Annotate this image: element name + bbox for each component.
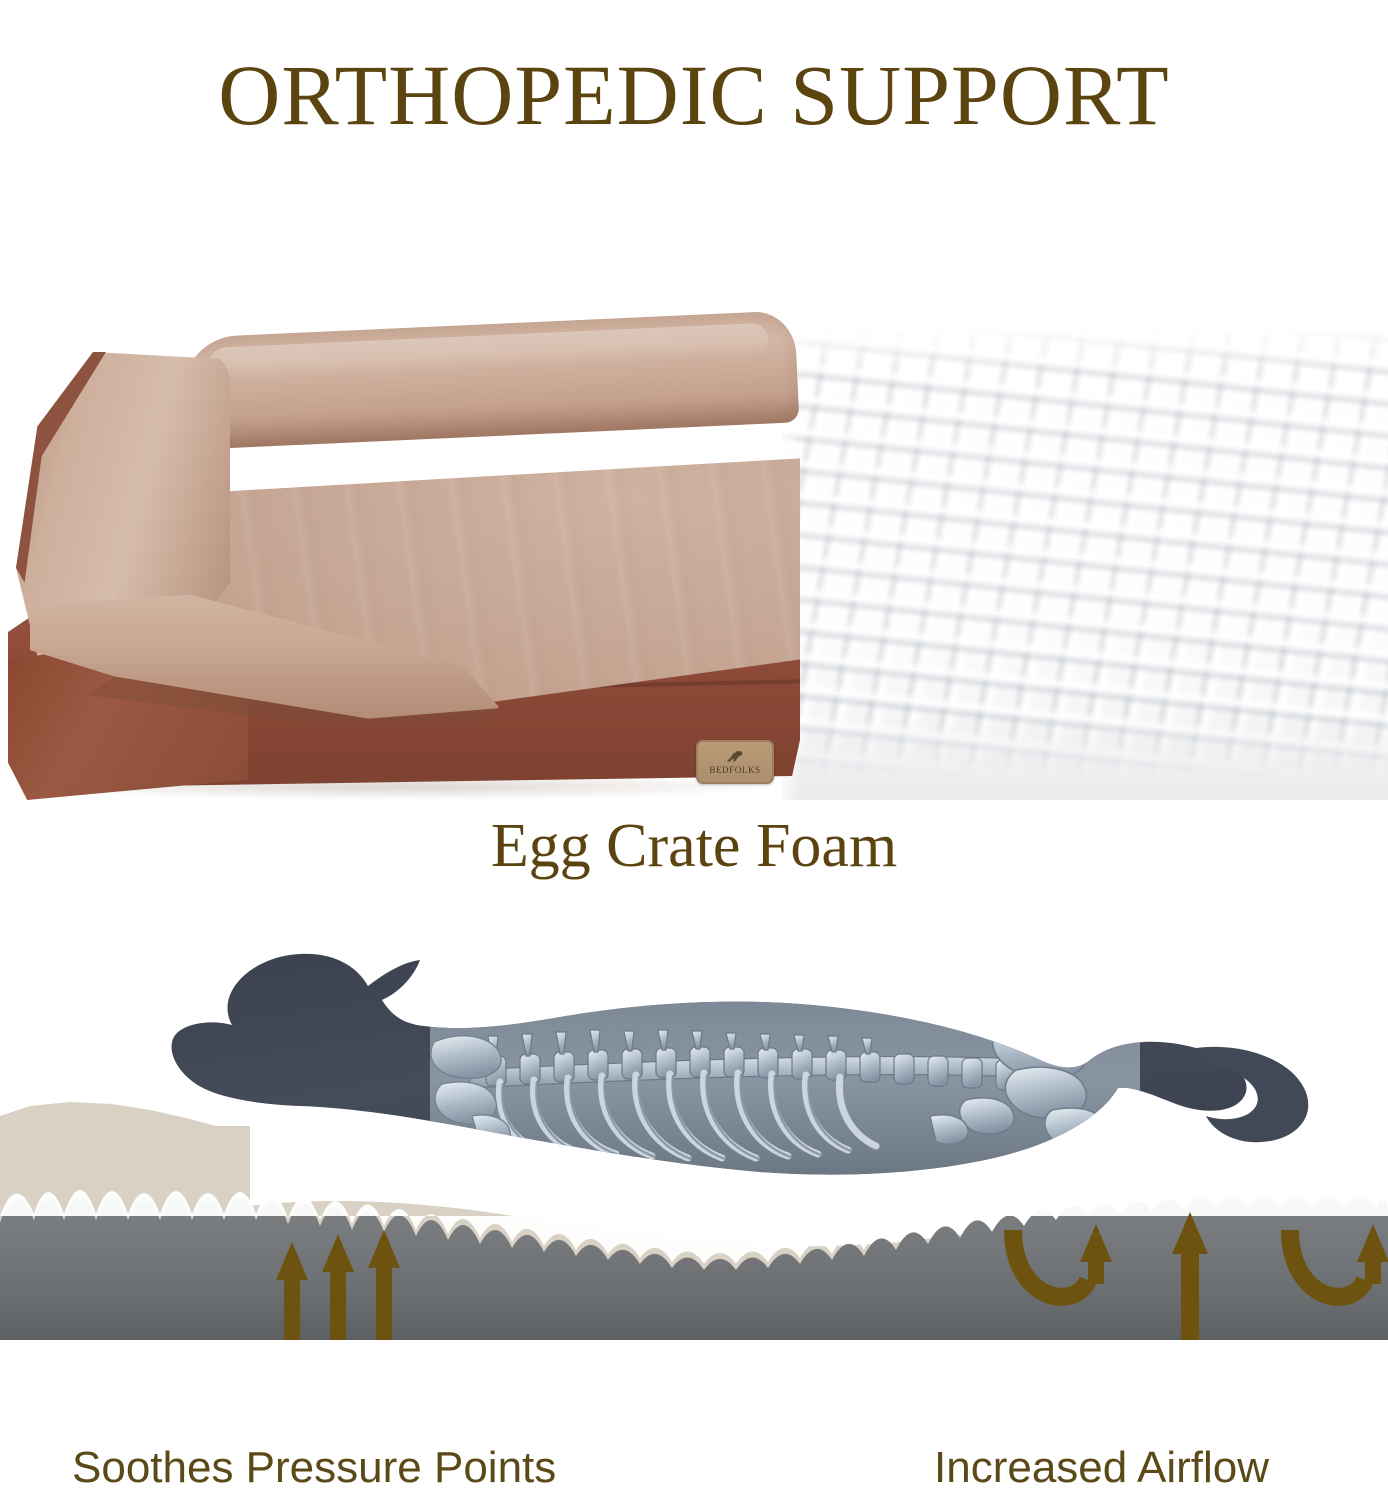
caption-soothes-pressure-points: Soothes Pressure Points xyxy=(72,1446,556,1490)
dog-xray-region xyxy=(430,980,1140,1180)
brand-logo-tag: BEDFOLKS xyxy=(696,740,774,784)
foam-top-highlight xyxy=(782,330,1388,374)
brand-logo-text: BEDFOLKS xyxy=(709,766,760,775)
cross-section-svg xyxy=(0,920,1388,1340)
egg-crate-foam-label: Egg Crate Foam xyxy=(0,815,1388,877)
infographic-canvas: ORTHOPEDIC SUPPORT xyxy=(0,0,1388,1500)
foam-bottom-edge xyxy=(782,716,1388,800)
product-image-block xyxy=(0,330,1388,800)
caption-increased-airflow: Increased Airflow xyxy=(934,1446,1269,1490)
foam-body xyxy=(782,330,1388,800)
dog-icon xyxy=(724,749,746,765)
page-title: ORTHOPEDIC SUPPORT xyxy=(0,52,1388,138)
bolster-dog-bed xyxy=(0,330,800,800)
pressure-relief-cross-section xyxy=(0,920,1388,1340)
bed-drop-shadow xyxy=(20,778,780,800)
egg-crate-foam-slab xyxy=(782,330,1388,800)
